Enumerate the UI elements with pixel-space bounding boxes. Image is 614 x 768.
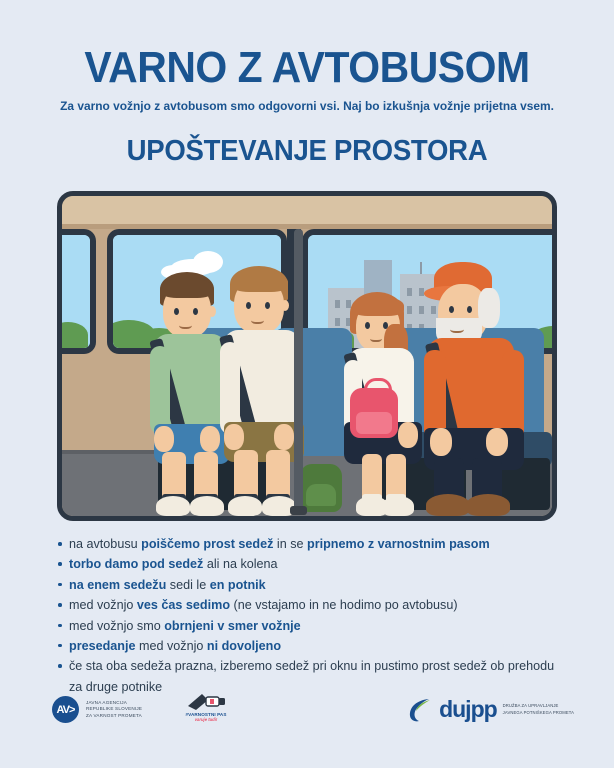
- shoe: [382, 496, 414, 516]
- bullet-emphasis: ni dovoljeno: [207, 639, 281, 653]
- cloud-icon: [193, 251, 223, 273]
- hand: [398, 422, 418, 448]
- poster-header: VARNO Z AVTOBUSOM Za varno vožnjo z avto…: [0, 0, 614, 168]
- hand: [200, 426, 220, 452]
- list-item: na enem sedežu sedi le en potnik: [57, 575, 569, 595]
- bullet-text: (ne vstajamo in ne hodimo po avtobusu): [230, 598, 458, 612]
- avp-mark-icon: AV>: [52, 696, 79, 723]
- bullet-emphasis: pripnemo z varnostnim pasom: [307, 537, 490, 551]
- list-item: presedanje med vožnjo ni dovoljeno: [57, 636, 569, 656]
- bullet-emphasis: ves čas sedimo: [137, 598, 230, 612]
- bullet-text: če sta oba sedeža prazna, izberemo sedež…: [69, 659, 554, 693]
- list-item: na avtobusu poiščemo prost sedež in se p…: [57, 534, 569, 554]
- bus-illustration: [57, 191, 557, 521]
- eye: [467, 306, 472, 313]
- footer-logos: AV> JAVNA AGENCIJA REPUBLIKE SLOVENIJE Z…: [0, 692, 614, 752]
- dujpp-swoosh-icon: [407, 697, 433, 723]
- bus-interior: [57, 191, 557, 521]
- green-backpack-pocket: [306, 484, 336, 506]
- list-item: torbo damo pod sedež ali na kolena: [57, 554, 569, 574]
- bullet-list: na avtobusu poiščemo prost sedež in se p…: [57, 534, 569, 697]
- bullet-text: na avtobusu: [69, 537, 141, 551]
- eye: [383, 322, 388, 329]
- arm: [220, 342, 240, 434]
- rules-list: na avtobusu poiščemo prost sedež in se p…: [57, 534, 569, 697]
- bullet-emphasis: en potnik: [210, 578, 266, 592]
- bullet-text: med vožnjo: [136, 639, 207, 653]
- eye: [174, 308, 179, 315]
- list-item: med vožnjo ves čas sedimo (ne vstajamo i…: [57, 595, 569, 615]
- bullet-text: in se: [273, 537, 307, 551]
- grab-pole: [294, 229, 303, 512]
- seatbelt-buckle-icon: [184, 692, 228, 712]
- mouth: [179, 320, 192, 329]
- bullet-emphasis: presedanje: [69, 639, 136, 653]
- bullet-text: sedi le: [166, 578, 209, 592]
- arm: [150, 346, 170, 434]
- bush-icon: [57, 322, 88, 348]
- hair-fringe: [232, 272, 288, 292]
- eye: [246, 302, 251, 309]
- shoe-brown: [426, 494, 470, 516]
- mouth: [370, 334, 382, 342]
- bullet-emphasis: torbo damo pod sedež: [69, 557, 203, 571]
- eye: [365, 322, 370, 329]
- poster: VARNO Z AVTOBUSOM Za varno vožnjo z avto…: [0, 0, 614, 768]
- shoe-brown: [466, 494, 510, 516]
- mouth: [251, 315, 264, 324]
- section-title: UPOŠTEVANJE PROSTORA: [15, 135, 598, 168]
- bullet-text: ali na kolena: [203, 557, 277, 571]
- hand: [274, 424, 294, 450]
- avp-text: JAVNA AGENCIJA REPUBLIKE SLOVENIJE ZA VA…: [86, 700, 142, 720]
- hand: [486, 428, 508, 456]
- campaign-sub: varuje tudi!: [175, 717, 237, 722]
- bus-window-left: [57, 229, 96, 354]
- eye: [449, 306, 454, 313]
- logo-dujpp[interactable]: dujpp DRUŽBA ZA UPRAVLJANJE JAVNEGA POTN…: [407, 696, 574, 723]
- logo-campaign[interactable]: #VARNOSTNI PAS varuje tudi!: [175, 692, 237, 722]
- list-item: med vožnjo smo obrnjeni v smer vožnje: [57, 616, 569, 636]
- hand: [430, 428, 452, 456]
- grab-pole-foot: [290, 506, 307, 515]
- avp-line-1: JAVNA AGENCIJA: [86, 700, 142, 707]
- bullet-text: med vožnjo: [69, 598, 137, 612]
- eye: [265, 302, 270, 309]
- bullet-emphasis: obrnjeni v smer vožnje: [164, 619, 300, 633]
- dujpp-wordmark: dujpp: [439, 696, 497, 723]
- list-item: če sta oba sedeža prazna, izberemo sedež…: [57, 656, 569, 697]
- hand: [224, 424, 244, 450]
- shoe: [190, 496, 224, 516]
- dujpp-line-2: JAVNEGA POTNIŠKEGA PROMETA: [503, 710, 574, 716]
- ear: [281, 300, 289, 311]
- hair-fringe: [352, 296, 404, 316]
- logo-avp[interactable]: AV> JAVNA AGENCIJA REPUBLIKE SLOVENIJE Z…: [52, 696, 142, 723]
- avp-line-2: REPUBLIKE SLOVENIJE: [86, 706, 142, 713]
- shoe: [156, 496, 190, 516]
- mouth: [450, 324, 464, 333]
- shoe: [228, 496, 262, 516]
- bullet-emphasis: poiščemo prost sedež: [141, 537, 273, 551]
- bullet-emphasis: na enem sedežu: [69, 578, 166, 592]
- dujpp-text: DRUŽBA ZA UPRAVLJANJE JAVNEGA POTNIŠKEGA…: [503, 703, 574, 716]
- hand: [154, 426, 174, 452]
- page-title: VARNO Z AVTOBUSOM: [21, 46, 592, 90]
- bus-ceiling: [62, 196, 552, 226]
- ear: [208, 306, 216, 317]
- avp-line-3: ZA VARNOST PROMETA: [86, 713, 142, 720]
- hair-fringe: [161, 278, 213, 298]
- bullet-text: med vožnjo smo: [69, 619, 164, 633]
- eye: [193, 308, 198, 315]
- pink-backpack-pocket: [356, 412, 392, 434]
- page-subtitle: Za varno vožnjo z avtobusom smo odgovorn…: [9, 99, 605, 113]
